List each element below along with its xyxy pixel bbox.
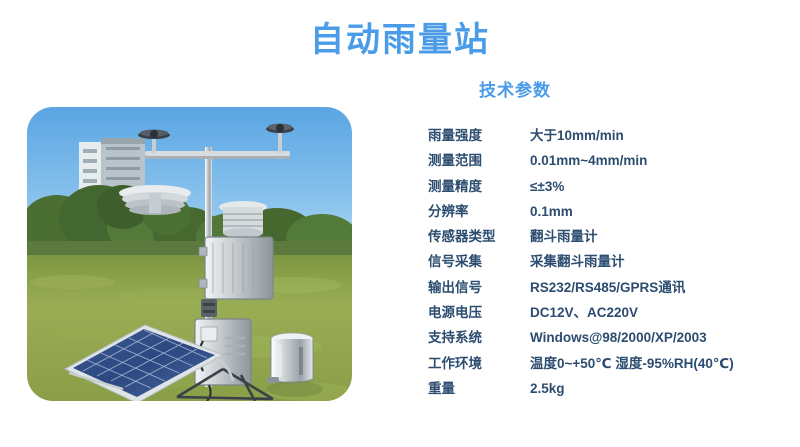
table-row: 工作环境 温度0~+50℃ 湿度-95%RH(40℃)	[428, 352, 788, 377]
spec-label: 重量	[428, 377, 530, 397]
table-row: 测量范围 0.01mm~4mm/min	[428, 149, 788, 174]
spec-label: 传感器类型	[428, 225, 530, 245]
spec-label: 信号采集	[428, 250, 530, 270]
spec-label: 分辨率	[428, 200, 530, 220]
table-row: 重量 2.5kg	[428, 377, 788, 402]
technical-parameters-table: 雨量强度 大于10mm/min 测量范围 0.01mm~4mm/min 测量精度…	[428, 124, 788, 402]
spec-label: 电源电压	[428, 301, 530, 321]
spec-value: 0.1mm	[530, 204, 788, 219]
spec-value: 采集翻斗雨量计	[530, 250, 788, 270]
building	[79, 138, 145, 194]
spec-label: 测量精度	[428, 175, 530, 195]
product-photo	[27, 107, 352, 401]
spec-value: RS232/RS485/GPRS通讯	[530, 276, 788, 296]
spec-value: 大于10mm/min	[530, 124, 788, 144]
secondary-sensor-shield	[219, 201, 267, 238]
spec-label: 测量范围	[428, 149, 530, 169]
table-row: 输出信号 RS232/RS485/GPRS通讯	[428, 276, 788, 301]
page-title: 自动雨量站	[0, 18, 800, 62]
spec-value: 0.01mm~4mm/min	[530, 153, 788, 168]
grey-enclosure-box-upper	[199, 237, 273, 299]
table-row: 支持系统 Windows@98/2000/XP/2003	[428, 326, 788, 351]
table-row: 雨量强度 大于10mm/min	[428, 124, 788, 149]
section-subtitle-technical-parameters: 技术参数	[380, 80, 650, 102]
table-row: 电源电压 DC12V、AC220V	[428, 301, 788, 326]
spec-label: 雨量强度	[428, 124, 530, 144]
spec-value: DC12V、AC220V	[530, 301, 788, 321]
spec-value: Windows@98/2000/XP/2003	[530, 330, 788, 345]
sensor-cross-arm	[145, 151, 290, 159]
table-row: 测量精度 ≤±3%	[428, 175, 788, 200]
table-row: 信号采集 采集翻斗雨量计	[428, 250, 788, 275]
table-row: 传感器类型 翻斗雨量计	[428, 225, 788, 250]
mast-joint	[201, 299, 217, 317]
spec-value: 翻斗雨量计	[530, 225, 788, 245]
spec-label: 工作环境	[428, 352, 530, 372]
spec-label: 输出信号	[428, 276, 530, 296]
spec-value: 温度0~+50℃ 湿度-95%RH(40℃)	[530, 352, 788, 372]
product-photo-illustration	[27, 107, 352, 401]
spec-value: 2.5kg	[530, 381, 788, 396]
spec-label: 支持系统	[428, 326, 530, 346]
table-row: 分辨率 0.1mm	[428, 200, 788, 225]
radiation-shield	[119, 185, 191, 215]
spec-value: ≤±3%	[530, 179, 788, 194]
